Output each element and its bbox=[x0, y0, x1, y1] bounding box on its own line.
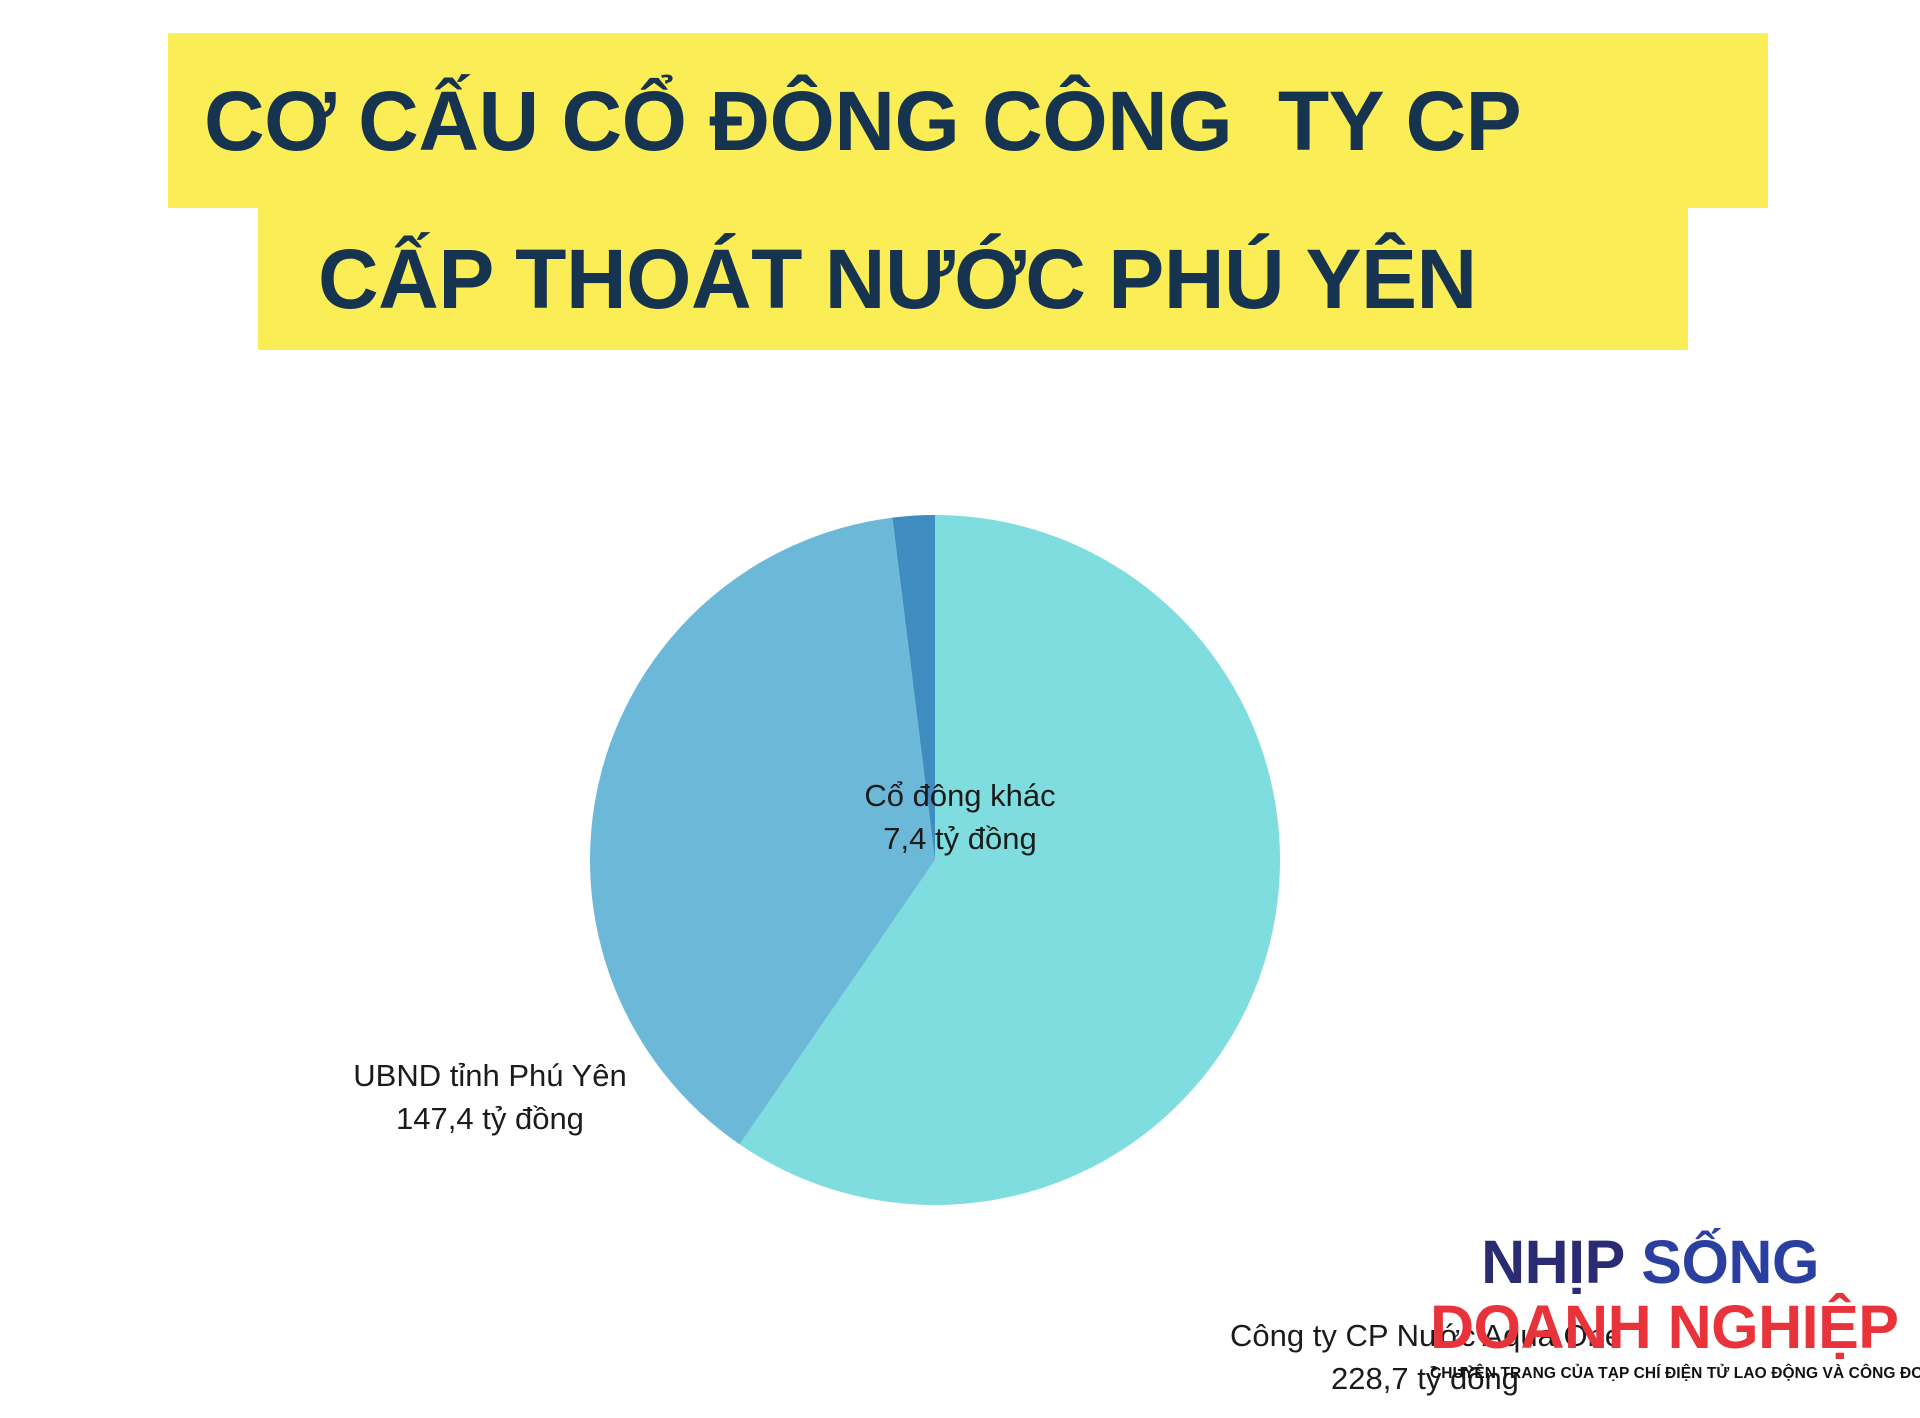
logo-space bbox=[1625, 1228, 1641, 1296]
logo-word-song: SỐNG bbox=[1641, 1228, 1819, 1296]
pie-label-other-value: 7,4 tỷ đồng bbox=[790, 818, 1130, 861]
logo-tagline: CHUYÊN TRANG CỦA TẠP CHÍ ĐIỆN TỬ LAO ĐỘN… bbox=[1430, 1365, 1870, 1383]
page-title-line-2: CẤP THOÁT NƯỚC PHÚ YÊN bbox=[258, 208, 1688, 350]
pie-label-ubnd-value: 147,4 tỷ đồng bbox=[320, 1098, 660, 1141]
page-title-line-1: CƠ CẤU CỔ ĐÔNG CÔNG TY CP bbox=[168, 33, 1768, 208]
pie-label-other: Cổ đông khác 7,4 tỷ đồng bbox=[790, 775, 1130, 861]
infographic-canvas: CƠ CẤU CỔ ĐÔNG CÔNG TY CP CẤP THOÁT NƯỚC… bbox=[0, 0, 1920, 1418]
title-block: CƠ CẤU CỔ ĐÔNG CÔNG TY CP CẤP THOÁT NƯỚC… bbox=[0, 0, 1920, 360]
pie-label-ubnd: UBND tỉnh Phú Yên 147,4 tỷ đồng bbox=[320, 1055, 660, 1141]
logo-word-nhip: NHỊP bbox=[1481, 1228, 1625, 1296]
pie-chart-area: Cổ đông khác 7,4 tỷ đồng UBND tỉnh Phú Y… bbox=[0, 350, 1920, 1230]
logo-line-2: DOANH NGHIỆP bbox=[1430, 1295, 1870, 1359]
pie-label-ubnd-name: UBND tỉnh Phú Yên bbox=[320, 1055, 660, 1098]
brand-logo: NHỊP SỐNG DOANH NGHIỆP CHUYÊN TRANG CỦA … bbox=[1430, 1232, 1870, 1392]
logo-line-1: NHỊP SỐNG bbox=[1430, 1232, 1870, 1293]
pie-label-other-name: Cổ đông khác bbox=[790, 775, 1130, 818]
